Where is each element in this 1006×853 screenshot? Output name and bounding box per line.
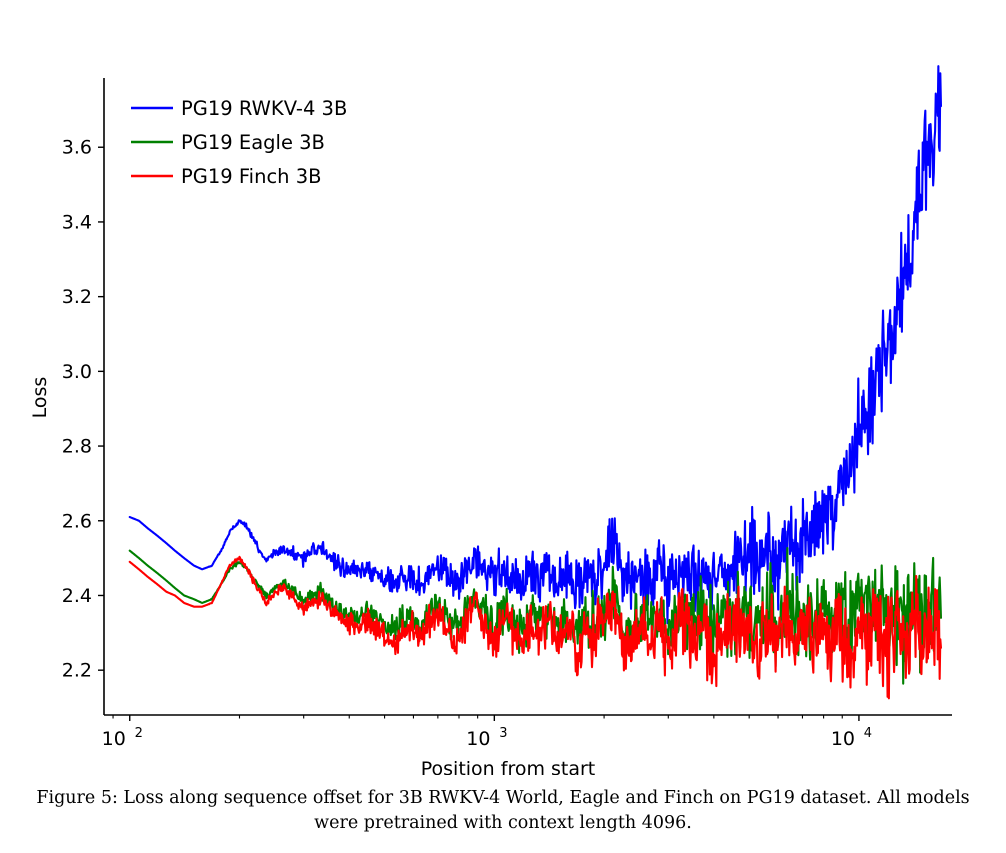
x-axis-title: Position from start bbox=[421, 758, 596, 775]
y-tick-label: 2.2 bbox=[62, 660, 92, 682]
svg-text:4: 4 bbox=[864, 726, 872, 741]
svg-text:3: 3 bbox=[499, 726, 507, 741]
y-axis-title: Loss bbox=[29, 377, 51, 419]
y-tick-label: 3.0 bbox=[62, 361, 92, 383]
svg-text:2: 2 bbox=[135, 726, 143, 741]
y-tick-label: 3.6 bbox=[62, 137, 92, 159]
legend-label-pg19-rwkv-4-3b: PG19 RWKV-4 3B bbox=[181, 97, 347, 120]
figure-container: 2.22.42.62.83.03.23.43.6102103104Positio… bbox=[0, 0, 1006, 853]
x-tick-label: 104 bbox=[831, 726, 872, 750]
x-tick-label: 103 bbox=[466, 726, 507, 750]
y-tick-label: 2.6 bbox=[62, 510, 92, 532]
legend-label-pg19-finch-3b: PG19 Finch 3B bbox=[181, 165, 322, 188]
x-tick-label: 102 bbox=[102, 726, 143, 750]
axis-labels-layer: 2.22.42.62.83.03.23.43.6102103104Positio… bbox=[29, 137, 872, 775]
chart-legend[interactable]: PG19 RWKV-4 3BPG19 Eagle 3BPG19 Finch 3B bbox=[131, 97, 347, 188]
svg-text:10: 10 bbox=[102, 728, 126, 750]
legend-label-pg19-eagle-3b: PG19 Eagle 3B bbox=[181, 131, 325, 154]
y-tick-label: 2.4 bbox=[62, 585, 92, 607]
svg-text:10: 10 bbox=[466, 728, 490, 750]
series-layer bbox=[130, 66, 941, 698]
y-tick-label: 2.8 bbox=[62, 436, 92, 458]
loss-line-chart: 2.22.42.62.83.03.23.43.6102103104Positio… bbox=[0, 0, 1006, 775]
y-tick-label: 3.2 bbox=[62, 286, 92, 308]
chart-plot-area: 2.22.42.62.83.03.23.43.6102103104Positio… bbox=[0, 0, 1006, 775]
svg-text:10: 10 bbox=[831, 728, 855, 750]
y-tick-label: 3.4 bbox=[62, 211, 92, 233]
figure-caption: Figure 5: Loss along sequence offset for… bbox=[0, 786, 1006, 837]
